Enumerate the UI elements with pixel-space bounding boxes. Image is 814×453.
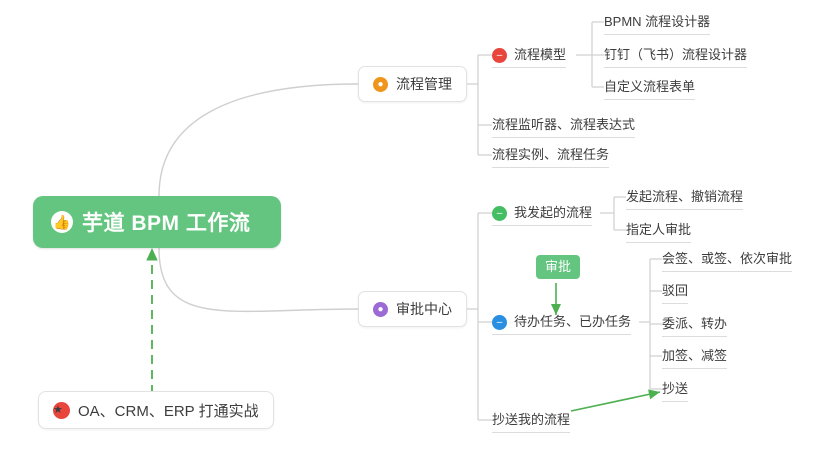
leaf-instance-task[interactable]: 流程实例、流程任务 [492, 146, 609, 168]
thumbs-up-icon: 👍 [51, 211, 73, 233]
leaf-process-model[interactable]: – 流程模型 [492, 46, 566, 68]
minus-circle-icon: – [492, 315, 507, 330]
leaf-custom-form[interactable]: 自定义流程表单 [604, 78, 695, 100]
leaf-todo-done-task[interactable]: – 待办任务、已办任务 [492, 313, 631, 335]
minus-circle-icon: – [492, 206, 507, 221]
leaf-bpmn-designer[interactable]: BPMN 流程设计器 [604, 13, 710, 35]
leaf-label: 流程模型 [514, 46, 566, 64]
leaf-delegate-transfer[interactable]: 委派、转办 [662, 315, 727, 337]
leaf-cc-to-me[interactable]: 抄送我的流程 [492, 411, 570, 433]
callout-label: OA、CRM、ERP 打通实战 [78, 400, 259, 421]
leaf-assign-approver[interactable]: 指定人审批 [626, 221, 691, 243]
leaf-listener-expression[interactable]: 流程监听器、流程表达式 [492, 116, 635, 138]
leaf-label: 我发起的流程 [514, 204, 592, 222]
chat-bubble-icon: ● [373, 302, 388, 317]
leaf-start-cancel-process[interactable]: 发起流程、撤销流程 [626, 188, 743, 210]
star-circle-icon: ★ [53, 402, 70, 419]
branch-label: 流程管理 [396, 74, 452, 94]
approval-tag[interactable]: 审批 [536, 255, 580, 279]
leaf-add-remove-sign[interactable]: 加签、减签 [662, 347, 727, 369]
root-node-label: 芋道 BPM 工作流 [82, 207, 250, 237]
branch-label: 审批中心 [396, 299, 452, 319]
branch-node-approval-center[interactable]: ● 审批中心 [358, 291, 467, 327]
minus-circle-icon: – [492, 48, 507, 63]
leaf-dingtalk-designer[interactable]: 钉钉（飞书）流程设计器 [604, 46, 747, 68]
leaf-countersign[interactable]: 会签、或签、依次审批 [662, 250, 792, 272]
callout-card[interactable]: ★ OA、CRM、ERP 打通实战 [38, 391, 274, 429]
root-node[interactable]: 👍 芋道 BPM 工作流 [33, 196, 281, 248]
leaf-cc[interactable]: 抄送 [662, 380, 688, 402]
location-pin-icon: ● [373, 77, 388, 92]
branch-node-process-management[interactable]: ● 流程管理 [358, 66, 467, 102]
leaf-my-started-process[interactable]: – 我发起的流程 [492, 204, 592, 226]
leaf-reject[interactable]: 驳回 [662, 282, 688, 304]
mindmap-canvas: 👍 芋道 BPM 工作流 ● 流程管理 ● 审批中心 – 流程模型 BPMN 流… [0, 0, 814, 453]
leaf-label: 待办任务、已办任务 [514, 313, 631, 331]
